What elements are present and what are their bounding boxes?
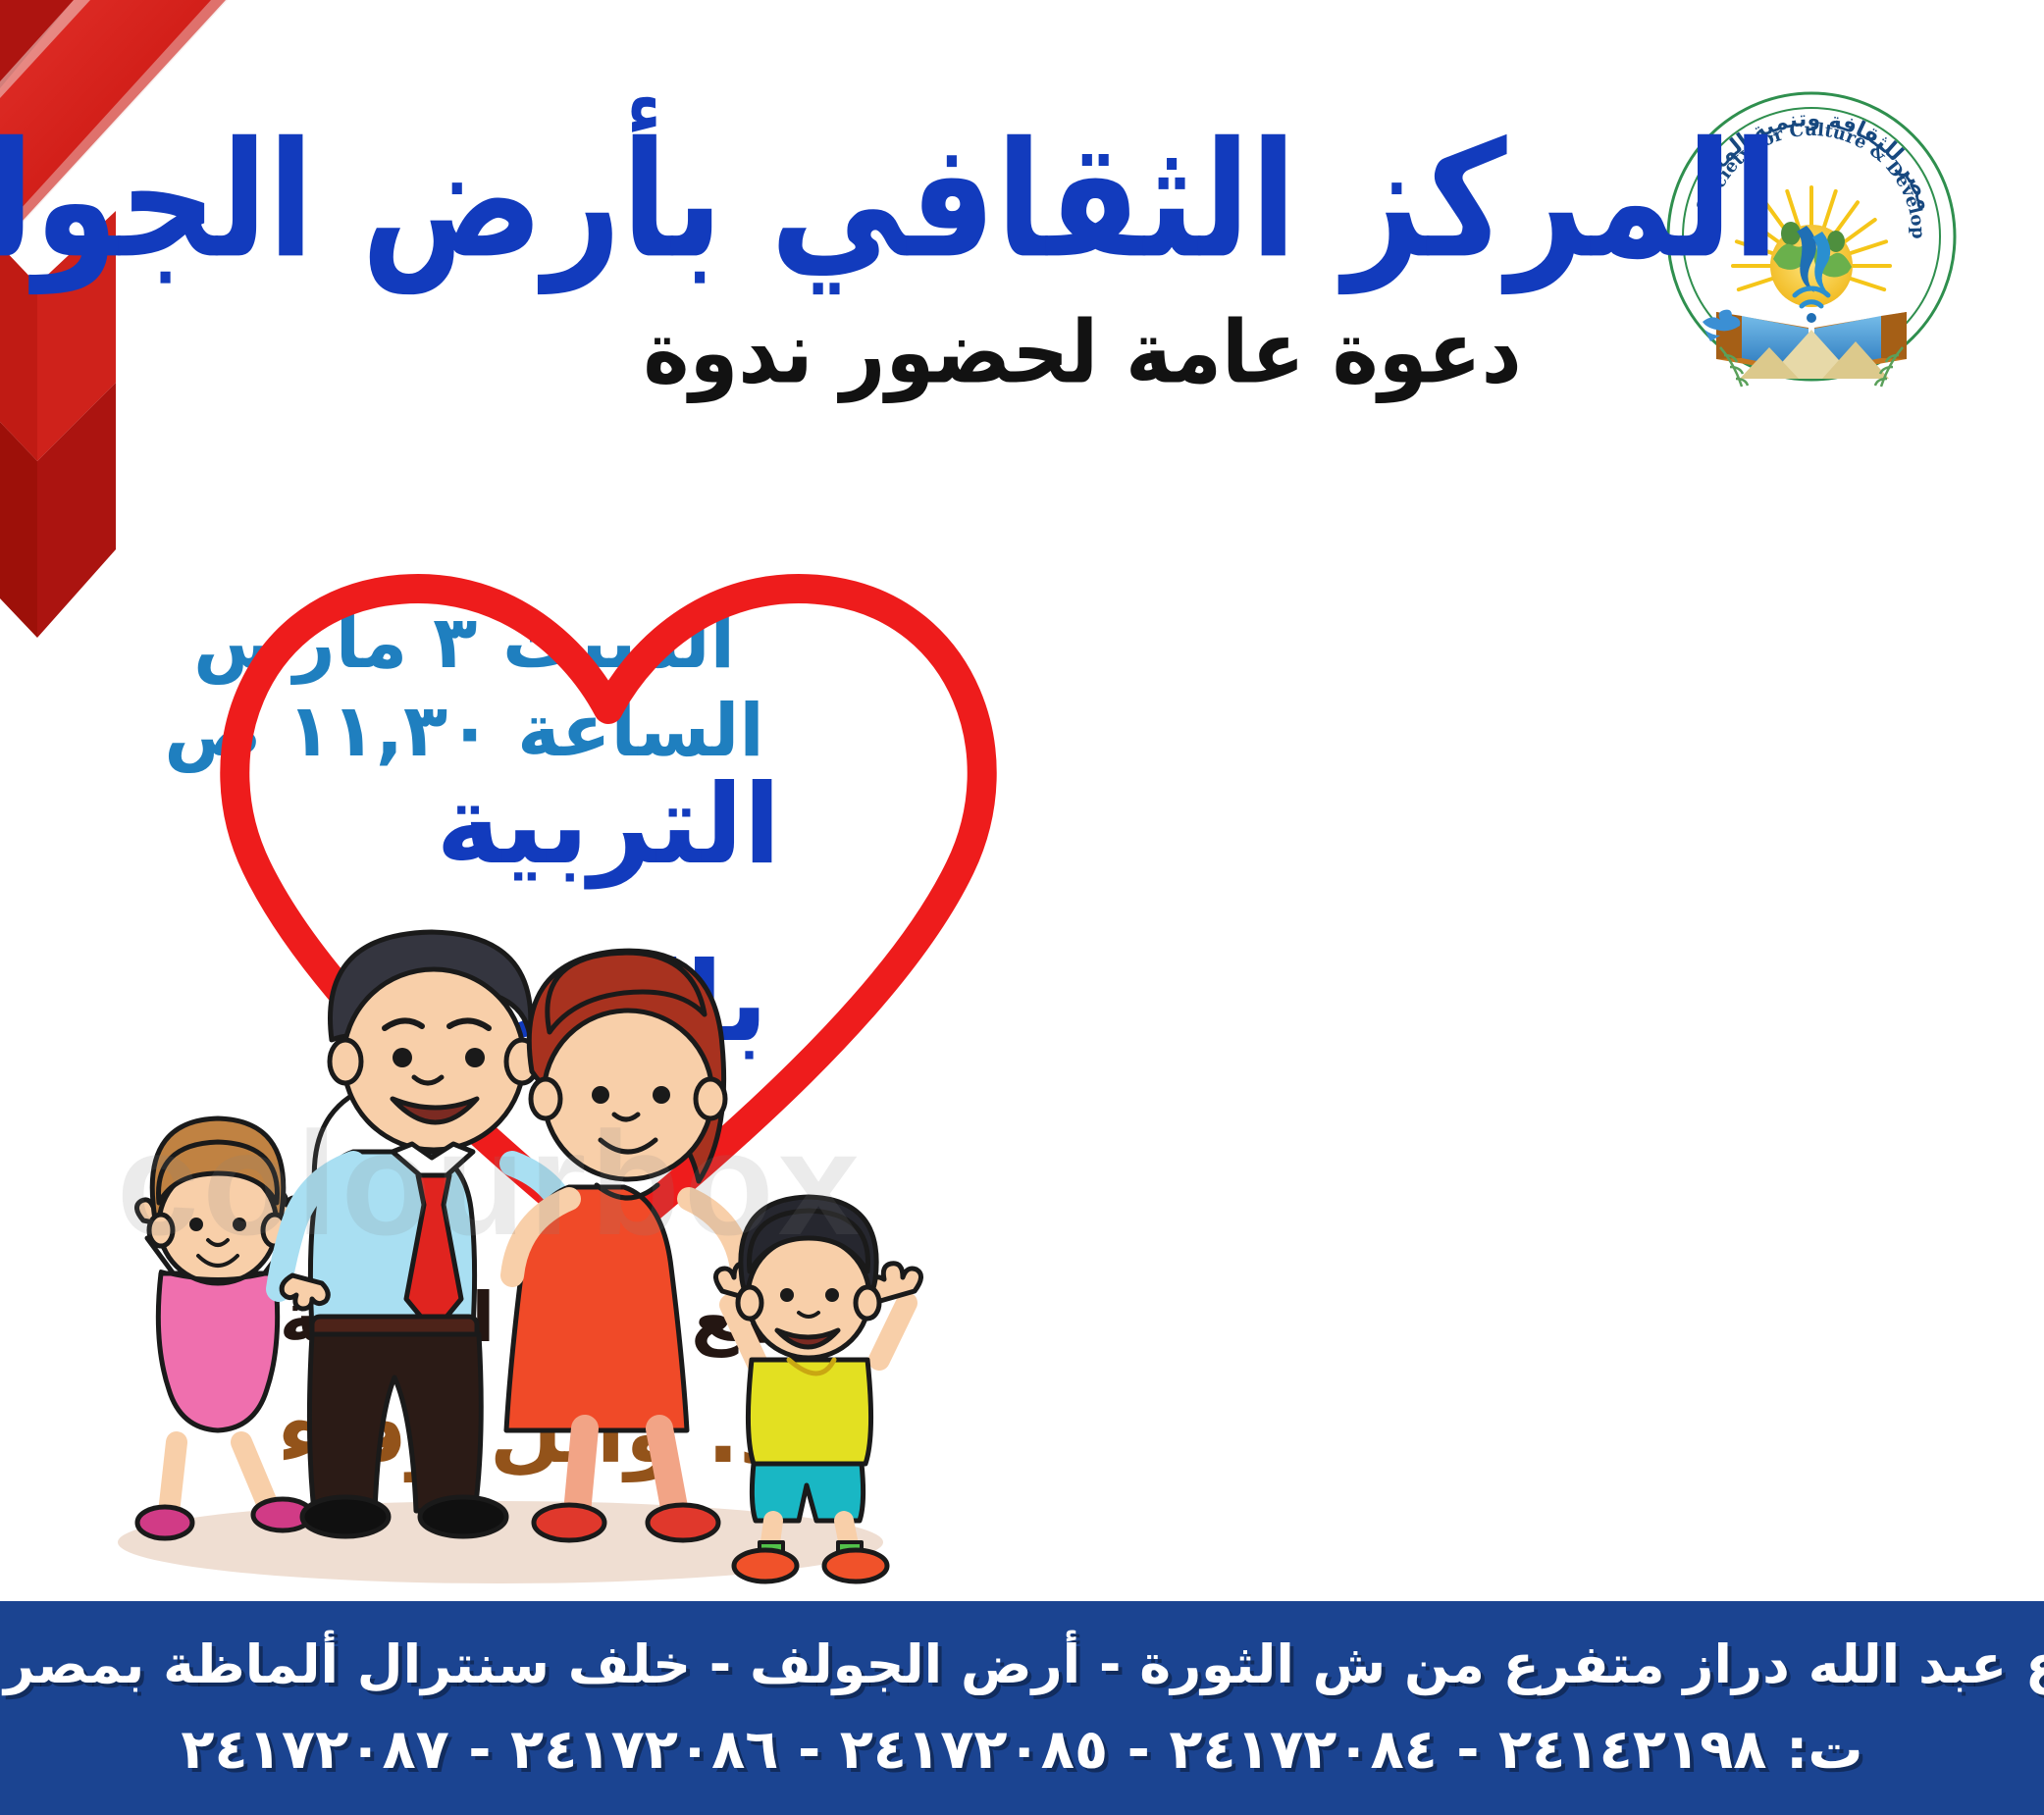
footer-contact-bar: ٤٢ شارع عبد الله دراز متفرع من ش الثورة … bbox=[0, 1597, 2044, 1815]
title-block: المركز الثقافي بأرض الجولف دعوة عامة لحض… bbox=[386, 118, 1779, 389]
family-illustration bbox=[59, 814, 942, 1589]
red-corner-ribbon bbox=[0, 0, 334, 638]
poster-subtitle: دعوة عامة لحضور ندوة bbox=[386, 310, 1779, 396]
event-poster: مصر للثقافة وتنمية المجتمع Egypt's Socie… bbox=[0, 0, 2044, 1815]
footer-address: ٤٢ شارع عبد الله دراز متفرع من ش الثورة … bbox=[0, 1633, 2044, 1696]
girl-figure bbox=[136, 1118, 312, 1538]
mother-figure bbox=[506, 951, 769, 1540]
page-title: المركز الثقافي بأرض الجولف bbox=[386, 118, 1779, 284]
footer-phones: ت: ٢٤١٤٢١٩٨ - ٢٤١٧٢٠٨٤ - ٢٤١٧٢٠٨٥ - ٢٤١٧… bbox=[181, 1718, 1862, 1783]
